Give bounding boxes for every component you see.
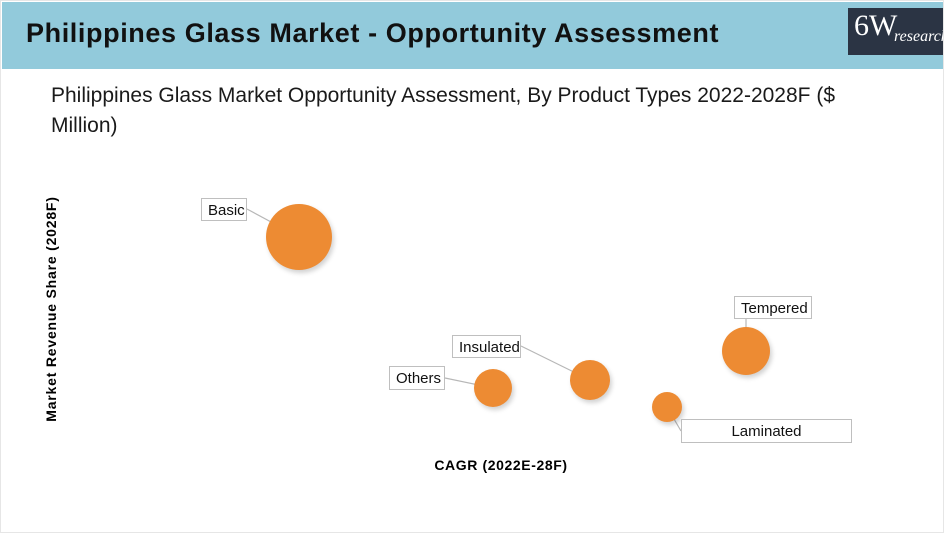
- data-label-others: Others: [389, 366, 445, 390]
- data-label-laminated: Laminated: [681, 419, 852, 443]
- bubble-laminated[interactable]: [652, 392, 682, 422]
- bubble-chart: Market Revenue Share (2028F) CAGR (2022E…: [1, 1, 944, 533]
- data-label-insulated: Insulated: [452, 335, 521, 358]
- bubble-insulated[interactable]: [570, 360, 610, 400]
- data-label-basic: Basic: [201, 198, 247, 221]
- bubble-tempered[interactable]: [722, 327, 770, 375]
- report-card: Philippines Glass Market - Opportunity A…: [0, 0, 944, 533]
- data-label-tempered: Tempered: [734, 296, 812, 319]
- x-axis-title: CAGR (2022E-28F): [331, 457, 671, 473]
- leader-lines: [1, 1, 944, 533]
- bubble-basic[interactable]: [266, 204, 332, 270]
- y-axis-title: Market Revenue Share (2028F): [43, 169, 59, 449]
- bubble-others[interactable]: [474, 369, 512, 407]
